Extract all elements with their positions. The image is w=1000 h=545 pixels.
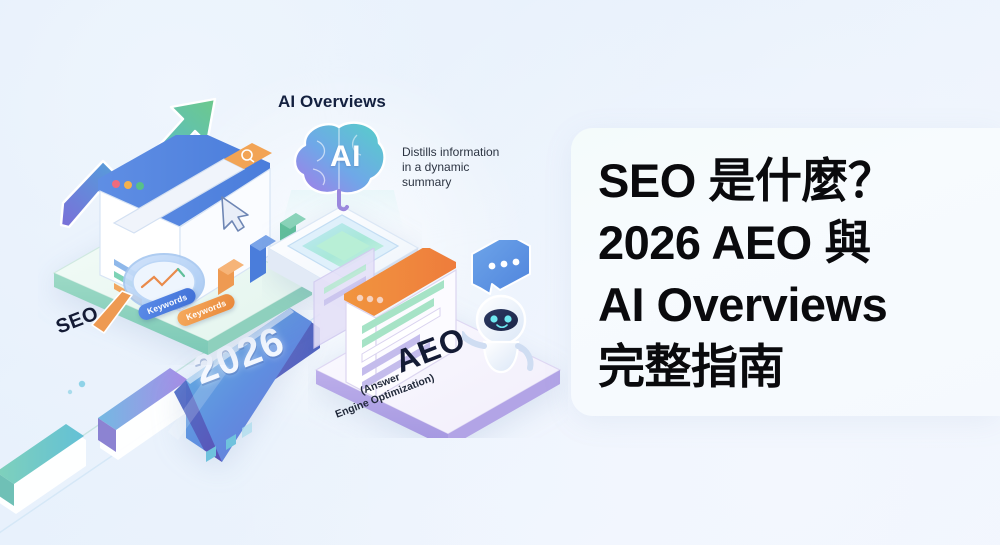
title-line-4: 完整指南 [598, 336, 988, 398]
title-line-3: AI Overviews [598, 274, 988, 336]
title-line-2: 2026 AEO 與 [598, 212, 988, 274]
robot-icon [462, 288, 540, 380]
ai-overviews-note: Distills information in a dynamic summar… [402, 145, 527, 190]
window-dot-3 [377, 297, 383, 303]
hero-banner: 2026 [0, 0, 1000, 545]
ai-overviews-label: AI Overviews [278, 92, 386, 112]
window-dot-1 [357, 295, 363, 301]
window-dot-2 [367, 296, 373, 302]
window-dot-yellow [124, 181, 132, 189]
window-dot-green [136, 182, 144, 190]
roadmap-chevron-2 [98, 368, 190, 460]
note-line-3: summary [402, 175, 527, 190]
title-line-1: SEO 是什麼？ [598, 150, 988, 212]
accent-dot [79, 381, 85, 387]
note-line-2: in a dynamic [402, 160, 527, 175]
roadmap-chevron-1 [0, 424, 86, 514]
page-title: SEO 是什麼？ 2026 AEO 與 AI Overviews 完整指南 [598, 150, 988, 398]
brain-ai-label: AI [330, 140, 361, 174]
note-line-1: Distills information [402, 145, 527, 160]
window-dot-red [112, 180, 120, 188]
accent-dot [68, 390, 72, 394]
